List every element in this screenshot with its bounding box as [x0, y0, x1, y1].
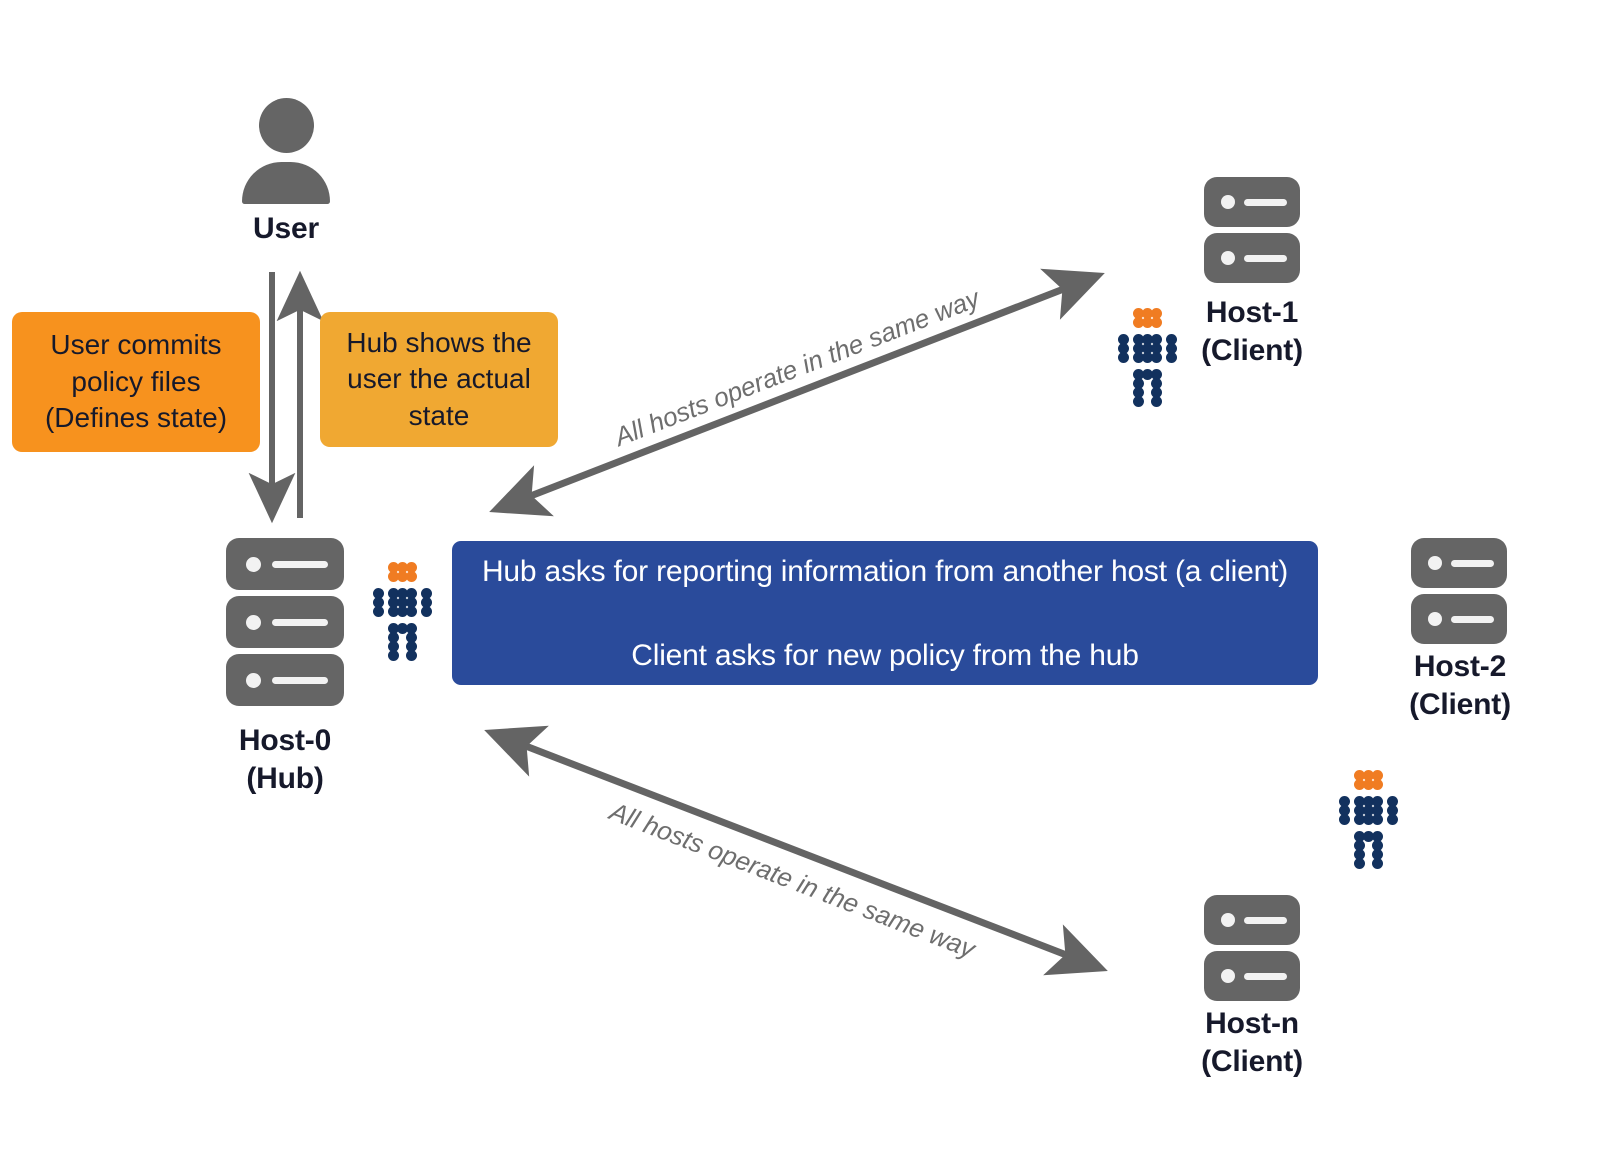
host-1-server-stack-icon [1204, 177, 1300, 283]
arrow-hub-to-hostn [492, 733, 1100, 968]
host-0-node [226, 538, 344, 706]
host-2-label: Host-2 (Client) [1340, 648, 1580, 725]
callout-user-commits: User commits policy files (Defines state… [12, 312, 260, 452]
user-label: User [186, 212, 386, 246]
host-2-server-stack-icon [1411, 538, 1507, 644]
host-0-server-stack-icon [226, 538, 344, 706]
callout-hub-shows: Hub shows the user the actual state [320, 312, 558, 447]
host-n-node [1204, 895, 1300, 1001]
callout-user-commits-text: User commits policy files (Defines state… [45, 327, 227, 436]
person-icon [242, 98, 330, 204]
person-shoulders-icon [242, 162, 330, 204]
person-head-icon [259, 98, 314, 153]
host-n-server-stack-icon [1204, 895, 1300, 1001]
blue-bar-line-top: Hub asks for reporting information from … [452, 555, 1318, 589]
user-node [226, 98, 346, 204]
diagram-canvas: User User commits policy files (Defines … [0, 0, 1610, 1150]
host-n-label: Host-n (Client) [1132, 1005, 1372, 1082]
host-1-node [1204, 177, 1300, 283]
host-2-node [1411, 538, 1507, 644]
blue-bar-line-bottom: Client asks for new policy from the hub [452, 639, 1318, 673]
host-1-label: Host-1 (Client) [1132, 294, 1372, 371]
callout-hub-shows-text: Hub shows the user the actual state [346, 325, 531, 434]
host-0-agent-icon [372, 562, 434, 666]
blue-bar: Hub asks for reporting information from … [452, 541, 1318, 685]
host-0-label: Host-0 (Hub) [165, 722, 405, 799]
arrow-hub-to-host1 [497, 276, 1097, 509]
host-2-agent-icon [1338, 770, 1400, 874]
